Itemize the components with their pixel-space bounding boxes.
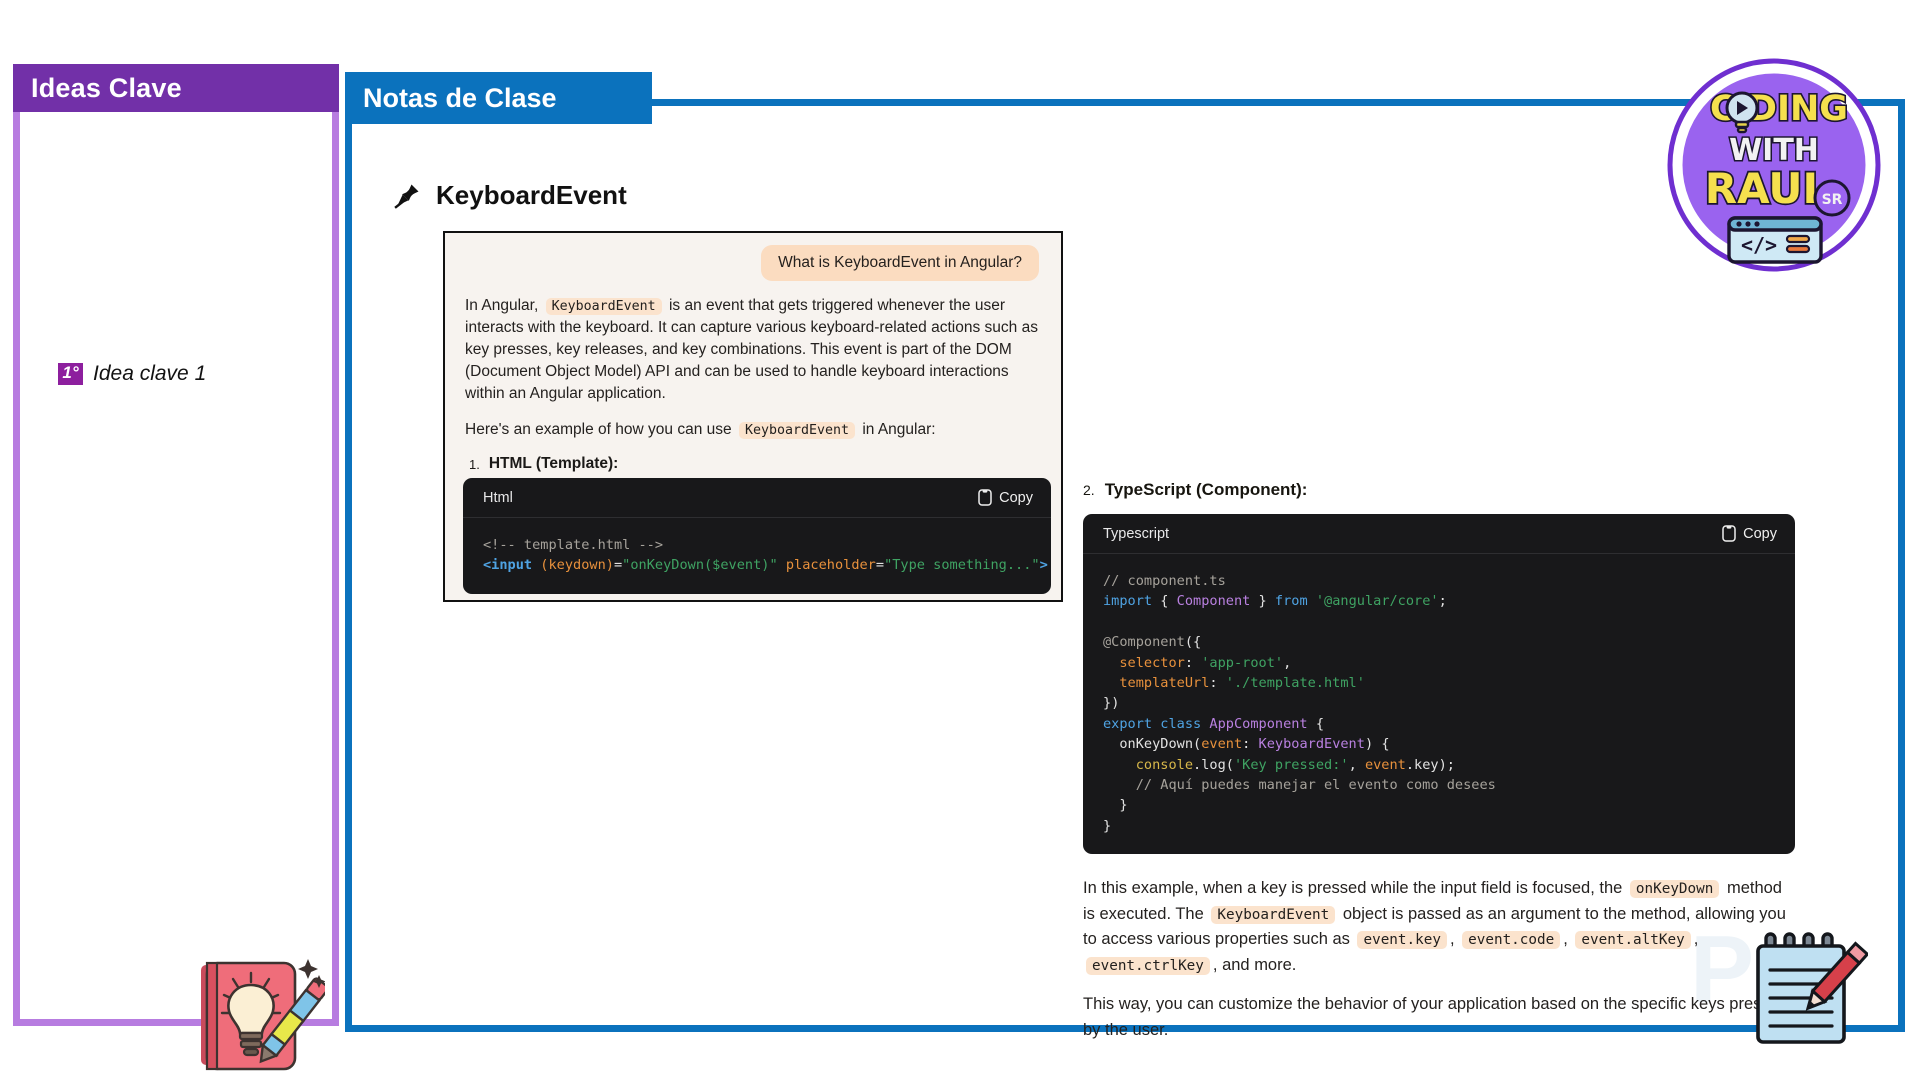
code-chip-onkeydown: onKeyDown: [1630, 880, 1719, 898]
html-code-body: <!-- template.html --> <input (keydown)=…: [463, 518, 1051, 594]
notas-de-clase-header: Notas de Clase: [345, 72, 652, 124]
html-line-comment: <!-- template.html -->: [483, 537, 663, 553]
para2-part1: Here's an example of how you can use: [465, 421, 732, 438]
typescript-section-label: 2. TypeScript (Component):: [1083, 480, 1795, 500]
idea-index-badge: 1°: [58, 363, 83, 385]
copy-icon: [978, 489, 992, 506]
logo-sr-badge: SR: [1815, 181, 1849, 215]
typescript-code-block: Typescript Copy // component.ts import {…: [1083, 514, 1795, 854]
code-chip-keyboardevent: KeyboardEvent: [546, 298, 662, 315]
answer-paragraph-1: In Angular, KeyboardEvent is an event th…: [465, 295, 1041, 405]
typescript-copy-button[interactable]: Copy: [1722, 525, 1777, 542]
answer-body: In Angular, KeyboardEvent is an event th…: [445, 281, 1061, 473]
copy-icon: [1722, 525, 1736, 542]
question-bubble: What is KeyboardEvent in Angular?: [761, 245, 1039, 281]
para2-part2: in Angular:: [862, 421, 935, 438]
html-code-header: Html Copy: [463, 478, 1051, 518]
code-chip-event-key: event.key: [1357, 931, 1446, 949]
ordered-list-item-1: 1. HTML (Template):: [469, 455, 1041, 473]
ideas-clave-list: 1° Idea clave 1: [58, 362, 308, 386]
notebook-lightbulb-pencil-illustration: [195, 957, 325, 1077]
typescript-copy-label: Copy: [1743, 526, 1777, 542]
html-code-language: Html: [483, 490, 513, 506]
code-chip-event-altkey: event.altKey: [1575, 931, 1690, 949]
typescript-column: 2. TypeScript (Component): Typescript Co…: [1083, 480, 1795, 1057]
exp-sep2: ,: [1563, 930, 1568, 948]
coding-with-raul-logo: C DING WITH RAUL SR </>: [1667, 58, 1882, 273]
logo-code-window-icon: </>: [1729, 218, 1821, 262]
html-copy-label: Copy: [999, 490, 1033, 506]
list-number: 1.: [469, 455, 480, 473]
explain-paragraph-1: In this example, when a key is pressed w…: [1083, 876, 1795, 978]
typescript-code-body: // component.ts import { Component } fro…: [1083, 554, 1795, 854]
html-line-val2: "Type something...": [884, 557, 1040, 573]
answer-paragraph-2: Here's an example of how you can use Key…: [465, 419, 1041, 441]
pushpin-icon: [392, 181, 422, 211]
typescript-explanation: In this example, when a key is pressed w…: [1083, 876, 1795, 1043]
ideas-clave-body: 1° Idea clave 1: [13, 112, 339, 1026]
exp-sep3: ,: [1694, 930, 1699, 948]
page-title: KeyboardEvent: [436, 180, 627, 211]
ideas-clave-panel: Ideas Clave 1° Idea clave 1: [13, 64, 339, 1026]
ts-list-label: TypeScript (Component):: [1105, 480, 1308, 500]
para1-part1: In Angular,: [465, 297, 538, 314]
html-line-eq2: =: [876, 557, 884, 573]
idea-label: Idea clave 1: [93, 362, 206, 386]
code-chip-event-ctrlkey: event.ctrlKey: [1086, 957, 1210, 975]
logo-line2: WITH: [1729, 133, 1819, 168]
typescript-code-language: Typescript: [1103, 526, 1169, 542]
code-chip-keyboardevent-3: KeyboardEvent: [1211, 906, 1335, 924]
html-line-tag: <input: [483, 557, 532, 573]
html-line-binding: (keydown): [540, 557, 614, 573]
list-label: HTML (Template):: [489, 455, 618, 473]
section-heading: KeyboardEvent: [392, 180, 627, 211]
typescript-code-header: Typescript Copy: [1083, 514, 1795, 554]
svg-text:</>: </>: [1741, 233, 1777, 257]
code-chip-keyboardevent-2: KeyboardEvent: [739, 422, 855, 439]
html-line-close: >: [1040, 557, 1048, 573]
notepad-pencil-illustration: [1750, 930, 1868, 1050]
explain-paragraph-2: This way, you can customize the behavior…: [1083, 992, 1795, 1043]
exp-sep1: ,: [1450, 930, 1455, 948]
notas-de-clase-title: Notas de Clase: [363, 83, 557, 114]
code-chip-event-code: event.code: [1462, 931, 1560, 949]
html-line-attr: placeholder: [786, 557, 876, 573]
ideas-clave-title: Ideas Clave: [31, 73, 182, 104]
logo-line3: RAUL: [1705, 164, 1829, 213]
question-bubble-wrap: What is KeyboardEvent in Angular?: [445, 233, 1061, 281]
html-copy-button[interactable]: Copy: [978, 489, 1033, 506]
exp-d: , and more.: [1213, 956, 1296, 974]
svg-text:SR: SR: [1822, 192, 1843, 208]
html-line-eq1: =: [614, 557, 622, 573]
ts-list-number: 2.: [1083, 480, 1095, 498]
html-line-val1: "onKeyDown($event)": [622, 557, 778, 573]
exp-a: In this example, when a key is pressed w…: [1083, 879, 1622, 897]
list-item[interactable]: 1° Idea clave 1: [58, 362, 308, 386]
ideas-clave-header: Ideas Clave: [13, 64, 339, 112]
html-code-block: Html Copy <!-- template.html --> <input …: [463, 478, 1051, 594]
